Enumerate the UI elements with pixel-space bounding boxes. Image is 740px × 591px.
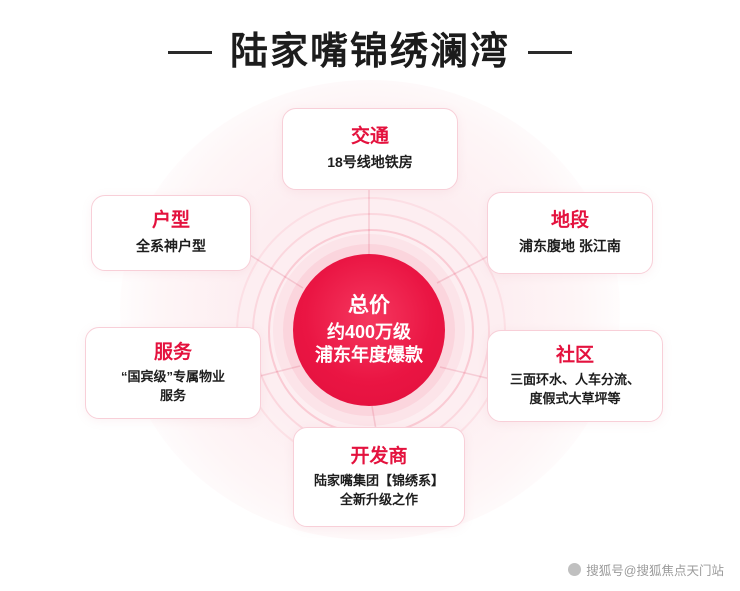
node-layout-desc-1: 全系神户型 (136, 237, 206, 257)
node-service-desc-2: 服务 (160, 387, 186, 405)
node-layout-title: 户型 (152, 209, 190, 233)
diagram-canvas: 陆家嘴锦绣澜湾 总价 约400万级 浦东年度爆款 交通 18号线地铁房 地段 浦… (0, 0, 740, 591)
node-community-desc-1: 三面环水、人车分流、 (510, 371, 640, 389)
center-line-3: 浦东年度爆款 (315, 344, 423, 368)
node-developer: 开发商 陆家嘴集团【锦绣系】 全新升级之作 (293, 427, 465, 527)
node-traffic-title: 交通 (351, 125, 389, 149)
node-traffic: 交通 18号线地铁房 (282, 108, 458, 190)
node-developer-desc-2: 全新升级之作 (340, 491, 418, 509)
node-location-title: 地段 (551, 209, 589, 233)
node-developer-title: 开发商 (350, 445, 407, 469)
center-node: 总价 约400万级 浦东年度爆款 (293, 254, 445, 406)
node-location-desc-1: 浦东腹地 张江南 (519, 237, 621, 257)
node-developer-desc-1: 陆家嘴集团【锦绣系】 (314, 472, 444, 490)
node-layout: 户型 全系神户型 (91, 195, 251, 271)
node-service-title: 服务 (154, 341, 192, 365)
center-line-1: 总价 (348, 292, 390, 320)
center-line-2: 约400万级 (327, 321, 411, 345)
node-community: 社区 三面环水、人车分流、 度假式大草坪等 (487, 330, 663, 422)
node-community-title: 社区 (556, 344, 594, 368)
node-community-desc-2: 度假式大草坪等 (529, 390, 620, 408)
node-service: 服务 “国宾级”专属物业 服务 (85, 327, 261, 419)
node-service-desc-1: “国宾级”专属物业 (121, 368, 225, 386)
node-location: 地段 浦东腹地 张江南 (487, 192, 653, 274)
node-traffic-desc-1: 18号线地铁房 (327, 153, 413, 173)
